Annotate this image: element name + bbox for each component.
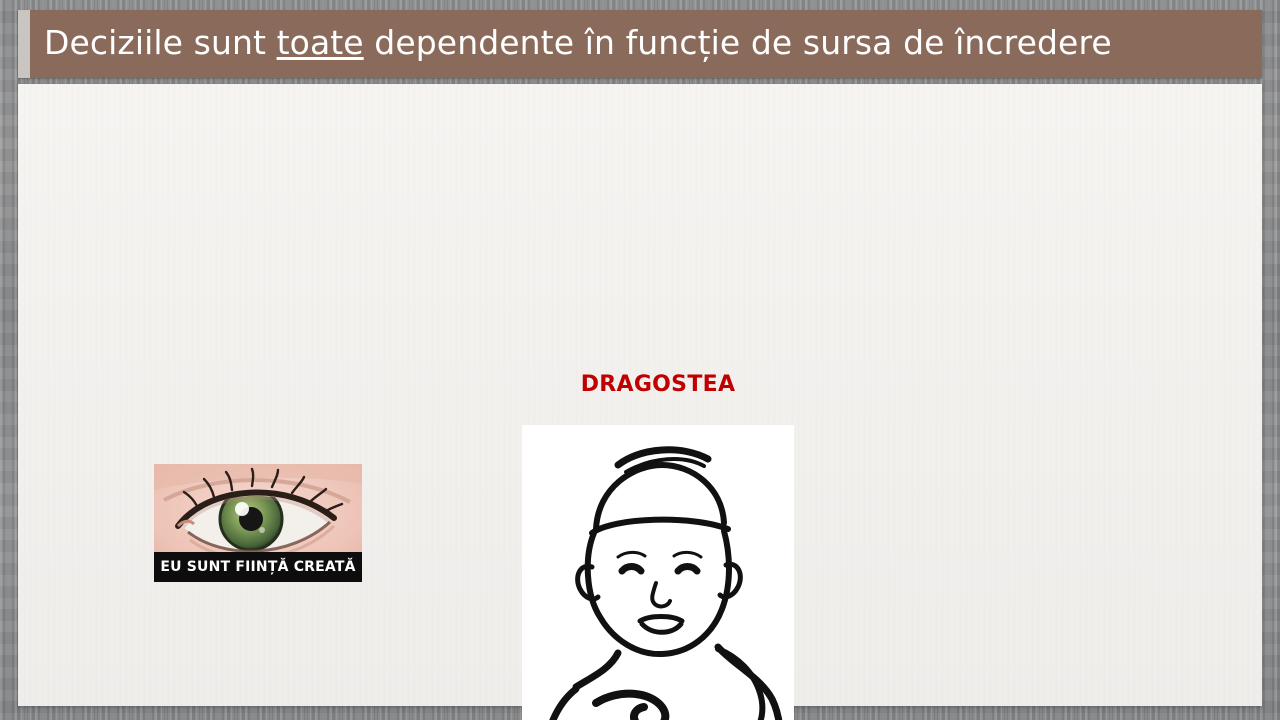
baby-illustration bbox=[522, 425, 794, 720]
slide-canvas: DRAGOSTEA bbox=[18, 84, 1262, 706]
title-accent-block bbox=[18, 10, 30, 78]
title-text-emphasis: toate bbox=[277, 23, 364, 62]
title-text-after: dependente în funcție de sursa de încred… bbox=[364, 23, 1112, 62]
dragostea-heading: DRAGOSTEA bbox=[522, 372, 794, 397]
slide: Deciziile sunt toate dependente în funcț… bbox=[0, 0, 1280, 720]
baby-line-art-icon bbox=[522, 425, 794, 720]
title-text-before: Deciziile sunt bbox=[44, 23, 277, 62]
eye-caption: EU SUNT FIINȚĂ CREATĂ bbox=[154, 552, 362, 582]
slide-title: Deciziile sunt toate dependente în funcț… bbox=[44, 18, 1244, 70]
eye-image-card: EU SUNT FIINȚĂ CREATĂ bbox=[154, 464, 362, 582]
